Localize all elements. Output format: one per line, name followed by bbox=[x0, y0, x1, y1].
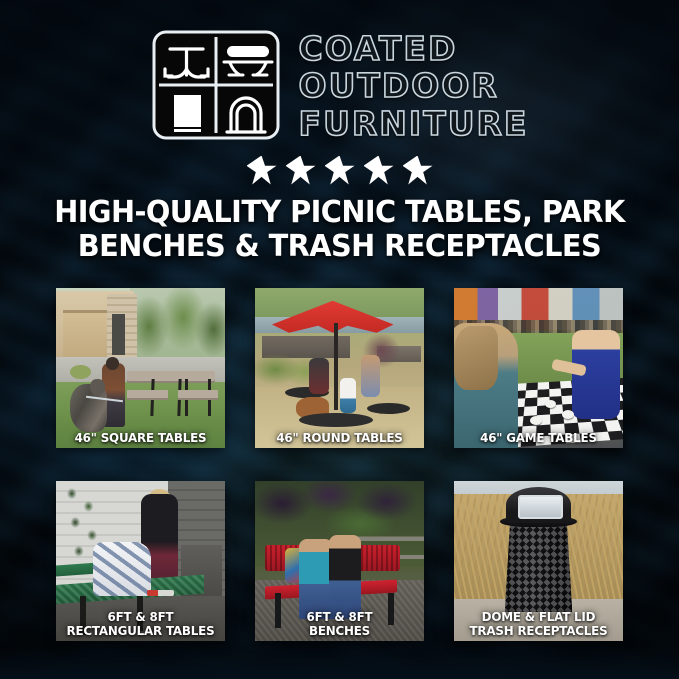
star-icon bbox=[325, 156, 355, 185]
product-tile-game-tables[interactable]: 46" GAME TABLES bbox=[454, 288, 623, 448]
brand-line-2: OUTDOOR bbox=[299, 68, 499, 104]
banner-content: COATED OUTDOOR FURNITURE HIGH-QUALITY PI… bbox=[0, 0, 679, 679]
product-tile-round-tables[interactable]: 46" ROUND TABLES bbox=[255, 288, 424, 448]
product-tile-rectangular-tables[interactable]: 6FT & 8FT RECTANGULAR TABLES bbox=[56, 481, 225, 641]
tile-caption: 46" ROUND TABLES bbox=[259, 431, 420, 445]
brand-logo: COATED OUTDOOR FURNITURE bbox=[0, 0, 679, 146]
square-tables-photo bbox=[56, 288, 225, 448]
tile-caption-line-1: 46" GAME TABLES bbox=[461, 431, 616, 445]
brand-line-1: COATED bbox=[299, 31, 458, 67]
tile-caption: 46" GAME TABLES bbox=[458, 431, 619, 445]
tile-caption-line-2: TRASH RECEPTACLES bbox=[461, 624, 616, 638]
promo-banner: COATED OUTDOOR FURNITURE HIGH-QUALITY PI… bbox=[0, 0, 679, 679]
tile-caption: 6FT & 8FT RECTANGULAR TABLES bbox=[60, 610, 221, 637]
tile-caption-line-1: 6FT & 8FT bbox=[63, 610, 218, 624]
page-title: HIGH-QUALITY PICNIC TABLES, PARK BENCHES… bbox=[14, 196, 666, 263]
tile-caption-line-1: 46" SQUARE TABLES bbox=[63, 431, 218, 445]
brand-wordmark: COATED OUTDOOR FURNITURE bbox=[299, 29, 529, 142]
tile-caption-line-2: RECTANGULAR TABLES bbox=[63, 624, 218, 638]
tile-caption-line-1: DOME & FLAT LID bbox=[461, 610, 616, 624]
product-tile-trash-receptacles[interactable]: DOME & FLAT LID TRASH RECEPTACLES bbox=[454, 481, 623, 641]
round-tables-photo bbox=[255, 288, 424, 448]
brand-logo-mark bbox=[151, 29, 281, 141]
tile-caption-line-1: 46" ROUND TABLES bbox=[262, 431, 417, 445]
tile-caption-line-1: 6FT & 8FT bbox=[262, 610, 417, 624]
product-tile-square-tables[interactable]: 46" SQUARE TABLES bbox=[56, 288, 225, 448]
game-tables-photo bbox=[454, 288, 623, 448]
tile-caption: DOME & FLAT LID TRASH RECEPTACLES bbox=[458, 610, 619, 637]
tile-caption: 6FT & 8FT BENCHES bbox=[259, 610, 420, 637]
star-rating bbox=[0, 150, 679, 190]
headline-line-2: BENCHES & TRASH RECEPTACLES bbox=[35, 230, 645, 264]
tile-caption: 46" SQUARE TABLES bbox=[60, 431, 221, 445]
tile-caption-line-2: BENCHES bbox=[262, 624, 417, 638]
headline-line-1: HIGH-QUALITY PICNIC TABLES, PARK bbox=[35, 196, 645, 230]
star-icon bbox=[403, 156, 433, 185]
product-tile-benches[interactable]: 6FT & 8FT BENCHES bbox=[255, 481, 424, 641]
star-icon bbox=[286, 156, 316, 185]
star-icon bbox=[364, 156, 394, 185]
trash-receptacle-icon bbox=[174, 95, 201, 132]
brand-line-3: FURNITURE bbox=[299, 106, 529, 142]
product-category-grid: 46" SQUARE TABLES 46" ROUND TABLE bbox=[56, 288, 623, 641]
star-icon bbox=[247, 156, 277, 185]
